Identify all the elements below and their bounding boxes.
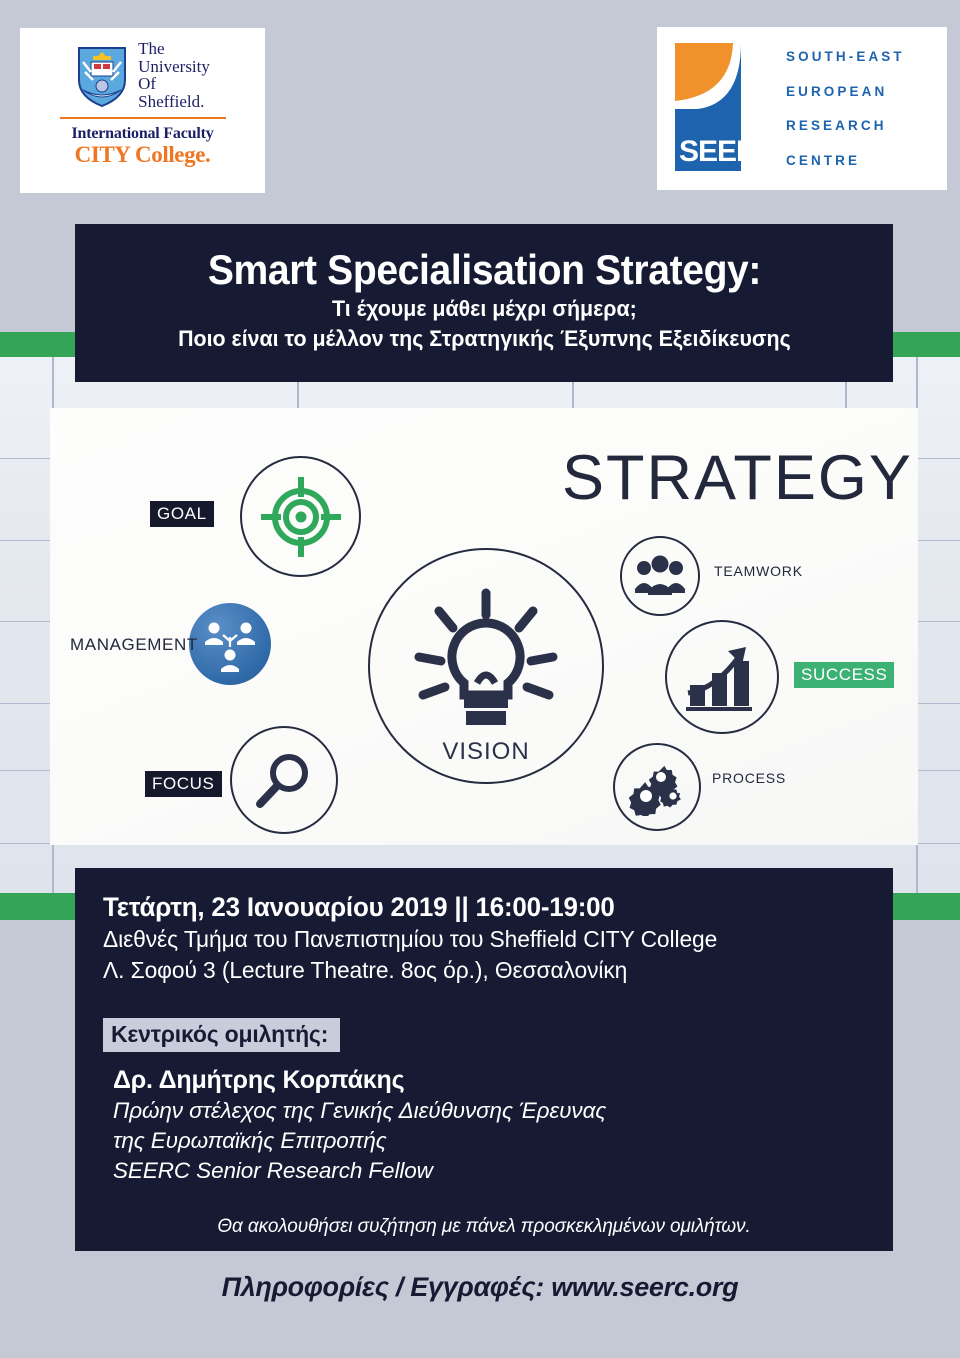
- sheffield-line-3: Of: [138, 75, 210, 93]
- focus-circle: [230, 726, 338, 834]
- speaker-heading: Κεντρικός ομιλητής:: [103, 1018, 340, 1052]
- target-icon: [259, 475, 343, 559]
- page-title: Smart Specialisation Strategy:: [207, 246, 760, 294]
- seerc-mark-icon: SEERC: [671, 39, 769, 178]
- speaker-name: Δρ. Δημήτρης Κορπάκης: [103, 1064, 865, 1096]
- goal-circle: [240, 456, 361, 577]
- panel-discussion-note: Θα ακολουθήσει συζήτηση με πάνελ προσκεκ…: [103, 1216, 865, 1238]
- registration-info[interactable]: Πληροφορίες / Εγγραφές: www.seerc.org: [0, 1272, 960, 1303]
- growth-chart-icon: [682, 637, 762, 717]
- sheffield-faculty-label: International Faculty: [71, 125, 213, 142]
- seerc-logo: SEERC SOUTH-EAST EUROPEAN RESEARCH CENTR…: [657, 27, 947, 190]
- process-label: PROCESS: [712, 770, 786, 786]
- sheffield-line-4: Sheffield.: [138, 93, 210, 111]
- management-label: MANAGEMENT: [70, 635, 198, 655]
- teamwork-circle: [620, 536, 700, 616]
- team-group-icon: [633, 549, 687, 603]
- venue-line-1: Διεθνές Τμήμα του Πανεπιστημίου του Shef…: [103, 924, 842, 955]
- management-circle: [189, 603, 271, 685]
- sheffield-coat-of-arms-icon: [75, 42, 129, 108]
- goal-label: GOAL: [150, 501, 214, 527]
- speaker-role-line-3: SEERC Senior Research Fellow: [103, 1156, 865, 1186]
- magnifier-icon: [253, 749, 315, 811]
- sheffield-logo: The University Of Sheffield. Internation…: [20, 28, 265, 193]
- lightbulb-icon: [391, 571, 581, 761]
- logo-divider: [60, 117, 226, 119]
- focus-label: FOCUS: [145, 771, 222, 797]
- event-date-time: Τετάρτη, 23 Ιανουαρίου 2019 || 16:00-19:…: [103, 890, 835, 924]
- sheffield-line-2: University: [138, 58, 210, 76]
- sheffield-city-college-label: CITY College.: [75, 142, 211, 168]
- strategy-graphic: STRATEGY GOAL MANAGEMENT: [50, 408, 918, 845]
- speaker-role-line-2: της Ευρωπαϊκής Επιτροπής: [103, 1126, 865, 1156]
- teamwork-label: TEAMWORK: [714, 563, 803, 579]
- success-label: SUCCESS: [794, 662, 894, 688]
- svg-text:SEERC: SEERC: [679, 135, 769, 168]
- vision-label: VISION: [416, 738, 556, 766]
- seerc-wordmark: SOUTH-EAST EUROPEAN RESEARCH CENTRE: [769, 39, 939, 178]
- sheffield-line-1: The: [138, 40, 210, 58]
- seerc-word-2: EUROPEAN: [786, 84, 939, 99]
- event-details-panel: Τετάρτη, 23 Ιανουαρίου 2019 || 16:00-19:…: [75, 868, 893, 1251]
- title-panel: Smart Specialisation Strategy: Τι έχουμε…: [75, 224, 893, 382]
- strategy-heading: STRATEGY: [562, 442, 913, 514]
- poster: The University Of Sheffield. Internation…: [0, 0, 960, 1358]
- seerc-word-4: CENTRE: [786, 153, 939, 168]
- venue-line-2: Λ. Σοφού 3 (Lecture Theatre. 8ος όρ.), Θ…: [103, 955, 842, 986]
- subtitle-line-1: Τι έχουμε μάθει μέχρι σήμερα;: [332, 294, 637, 324]
- sheffield-wordmark: The University Of Sheffield.: [138, 40, 210, 110]
- subtitle-line-2: Ποιο είναι το μέλλον της Στρατηγικής Έξυ…: [178, 324, 791, 354]
- process-circle: [613, 743, 701, 831]
- gears-icon: [628, 758, 686, 816]
- seerc-word-3: RESEARCH: [786, 118, 939, 133]
- success-circle: [665, 620, 779, 734]
- people-network-icon: [201, 615, 259, 673]
- speaker-role-line-1: Πρώην στέλεχος της Γενικής Διεύθυνσης Έρ…: [103, 1096, 865, 1126]
- seerc-word-1: SOUTH-EAST: [786, 49, 939, 64]
